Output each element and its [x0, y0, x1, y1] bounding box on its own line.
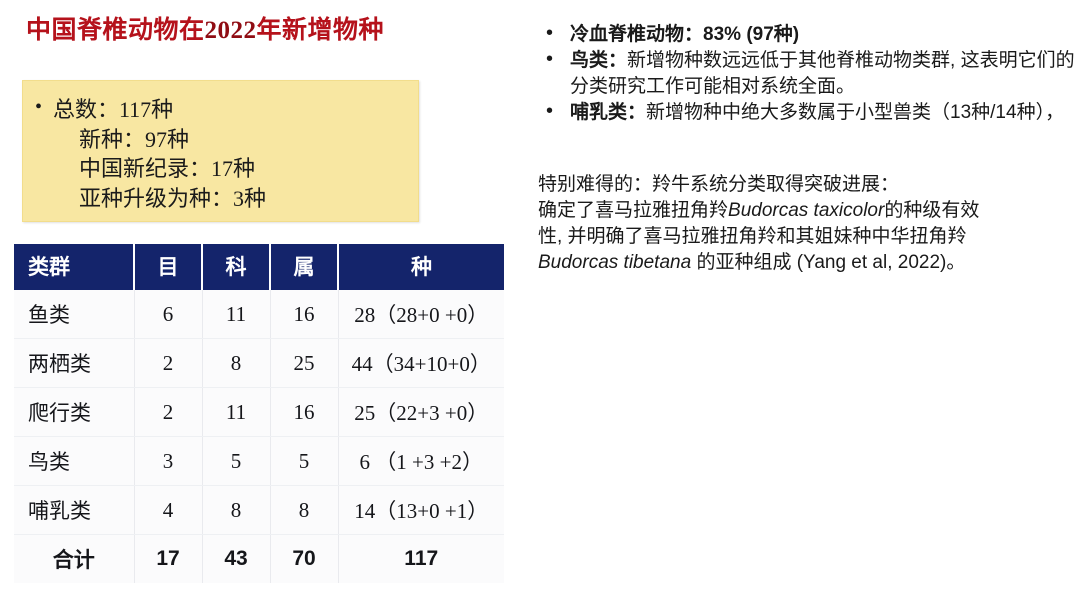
note-item-mammals: 哺乳类：新增物种中绝大多数属于小型兽类（13种/14种）， [528, 100, 1080, 125]
column-header-species: 种 [338, 244, 504, 290]
cell-order: 6 [134, 290, 202, 339]
cell-group: 爬行类 [14, 388, 134, 437]
notes-bullet-list: 冷血脊椎动物：83% (97种) 鸟类：新增物种数远远低于其他脊椎动物类群, 这… [528, 22, 1080, 126]
note-text: 新增物种中绝大多数属于小型兽类（13种/14种）， [646, 102, 1064, 123]
table-row: 鱼类 6 11 16 28（28+0 +0） [14, 290, 504, 339]
cell-genus: 16 [270, 388, 338, 437]
cell-species: 28（28+0 +0） [338, 290, 504, 339]
summary-item-record: 中国新纪录：17种 [23, 154, 418, 184]
page-title: 中国脊椎动物在2022年新增物种 [26, 10, 384, 46]
cell-genus: 8 [270, 486, 338, 535]
note-label: 鸟类： [570, 50, 627, 71]
title-prefix: 中国脊椎动物在 [26, 17, 205, 44]
cell-species: 44（34+10+0） [338, 339, 504, 388]
table-row: 鸟类 3 5 5 6 （1 +3 +2） [14, 437, 504, 486]
cell-order: 2 [134, 339, 202, 388]
phylogeny-tree-svg [1060, 300, 1080, 615]
phylogeny-figure: B. t. whitei Bhutan subspecies B. t. tax… [1060, 300, 1080, 615]
column-header-genus: 属 [270, 244, 338, 290]
cell-group: 哺乳类 [14, 486, 134, 535]
right-column: 冷血脊椎动物：83% (97种) 鸟类：新增物种数远远低于其他脊椎动物类群, 这… [520, 0, 1080, 615]
cell-group: 两栖类 [14, 339, 134, 388]
takin-line-4: Budorcas tibetana 的亚种组成 (Yang et al, 202… [538, 250, 1080, 276]
cell-total-family: 43 [202, 535, 270, 584]
cell-order: 3 [134, 437, 202, 486]
table-header-row: 类群 目 科 属 种 [14, 244, 504, 290]
summary-list: 总数：117种 新种：97种 中国新纪录：17种 亚种升级为种：3种 [23, 81, 418, 214]
cell-total-label: 合计 [14, 535, 134, 584]
column-header-family: 科 [202, 244, 270, 290]
cell-group: 鱼类 [14, 290, 134, 339]
cell-genus: 5 [270, 437, 338, 486]
species-name-tibetana: Budorcas tibetana [538, 252, 691, 273]
summary-callout-box: 总数：117种 新种：97种 中国新纪录：17种 亚种升级为种：3种 [22, 80, 419, 222]
slide-canvas: 中国脊椎动物在2022年新增物种 总数：117种 新种：97种 中国新纪录：17… [0, 0, 1080, 615]
cell-order: 2 [134, 388, 202, 437]
column-header-group: 类群 [14, 244, 134, 290]
note-label: 哺乳类： [570, 102, 646, 123]
cell-family: 8 [202, 339, 270, 388]
table-row: 两栖类 2 8 25 44（34+10+0） [14, 339, 504, 388]
table-row: 哺乳类 4 8 8 14（13+0 +1） [14, 486, 504, 535]
cell-total-order: 17 [134, 535, 202, 584]
cell-species: 14（13+0 +1） [338, 486, 504, 535]
summary-item-total: 总数：117种 [23, 95, 418, 125]
takin-line-3: 性, 并明确了喜马拉雅扭角羚和其姐妹种中华扭角羚 [538, 224, 1080, 250]
note-text: 新增物种数远远低于其他脊椎动物类群, 这表明它们的分类研究工作可能相对系统全面。 [570, 50, 1075, 96]
takin-line2-pre: 确定了喜马拉雅扭角羚 [538, 200, 728, 221]
cell-family: 5 [202, 437, 270, 486]
table-row: 爬行类 2 11 16 25（22+3 +0） [14, 388, 504, 437]
note-label: 冷血脊椎动物： [570, 24, 703, 45]
species-name-taxicolor: Budorcas taxicolor [728, 200, 884, 221]
cell-species: 6 （1 +3 +2） [338, 437, 504, 486]
takin-line-2: 确定了喜马拉雅扭角羚Budorcas taxicolor的种级有效 [538, 198, 1080, 224]
note-text: 83% (97种) [703, 24, 799, 45]
table-total-row: 合计 17 43 70 117 [14, 535, 504, 584]
cell-genus: 16 [270, 290, 338, 339]
cell-family: 8 [202, 486, 270, 535]
cell-family: 11 [202, 290, 270, 339]
cell-group: 鸟类 [14, 437, 134, 486]
takin-line2-post: 的种级有效 [884, 200, 979, 221]
note-item-birds: 鸟类：新增物种数远远低于其他脊椎动物类群, 这表明它们的分类研究工作可能相对系统… [528, 48, 1080, 99]
summary-item-new: 新种：97种 [23, 125, 418, 155]
takin-line-1: 特别难得的：羚牛系统分类取得突破进展： [538, 172, 1080, 198]
column-header-order: 目 [134, 244, 202, 290]
takin-line4-post: 的亚种组成 (Yang et al, 2022)。 [691, 252, 965, 273]
summary-item-upgrade: 亚种升级为种：3种 [23, 184, 418, 214]
title-suffix: 年新增物种 [257, 17, 385, 44]
note-item-coldblooded: 冷血脊椎动物：83% (97种) [528, 22, 1080, 47]
left-column: 中国脊椎动物在2022年新增物种 总数：117种 新种：97种 中国新纪录：17… [0, 0, 520, 615]
cell-genus: 25 [270, 339, 338, 388]
cell-total-genus: 70 [270, 535, 338, 584]
takin-paragraph: 特别难得的：羚牛系统分类取得突破进展： 确定了喜马拉雅扭角羚Budorcas t… [538, 172, 1080, 276]
cell-species: 25（22+3 +0） [338, 388, 504, 437]
species-summary-table: 类群 目 科 属 种 鱼类 6 11 16 28（28+0 +0） 两栖类 2 [14, 244, 504, 583]
cell-total-species: 117 [338, 535, 504, 584]
title-year: 2022 [205, 17, 257, 44]
cell-family: 11 [202, 388, 270, 437]
cell-order: 4 [134, 486, 202, 535]
